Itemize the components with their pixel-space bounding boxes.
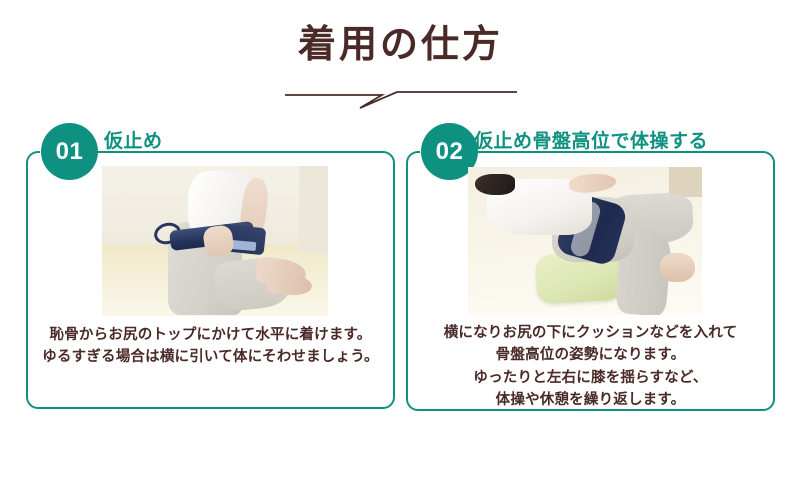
step-label-01: 仮止め [104,126,163,153]
step-photo-01 [102,166,328,316]
step-photo-02 [468,167,702,315]
photo-foot [660,253,695,283]
photo-wall-right [669,167,702,197]
page-title: 着用の仕方 [0,24,801,68]
photo-illustration-kneeling [102,166,328,316]
photo-hair [475,174,515,195]
photo-wall-right [299,166,328,253]
step-label-02: 仮止め骨盤高位で体操する [474,126,708,153]
step-number-text: 02 [436,138,464,166]
step-caption-01: 恥骨からお尻のトップにかけて水平に着けます。 ゆるすぎる場合は横に引いて体にそわ… [28,324,393,369]
caption-line: 骨盤高位の姿勢になります。 [408,344,773,366]
step-number-text: 01 [56,138,84,166]
caption-line: 体操や休憩を繰り返します。 [408,389,773,411]
caption-line: ゆったりと左右に膝を揺らすなど、 [408,367,773,389]
step-number-badge-01: 01 [41,123,98,180]
step-caption-02: 横になりお尻の下にクッションなどを入れて 骨盤高位の姿勢になります。 ゆったりと… [408,322,773,412]
photo-illustration-side-lying [468,167,702,315]
caption-line: 恥骨からお尻のトップにかけて水平に着けます。 [28,324,393,346]
caption-line: 横になりお尻の下にクッションなどを入れて [408,322,773,344]
caption-line: ゆるすぎる場合は横に引いて体にそわせましょう。 [28,346,393,368]
title-underline-decoration [285,88,517,110]
